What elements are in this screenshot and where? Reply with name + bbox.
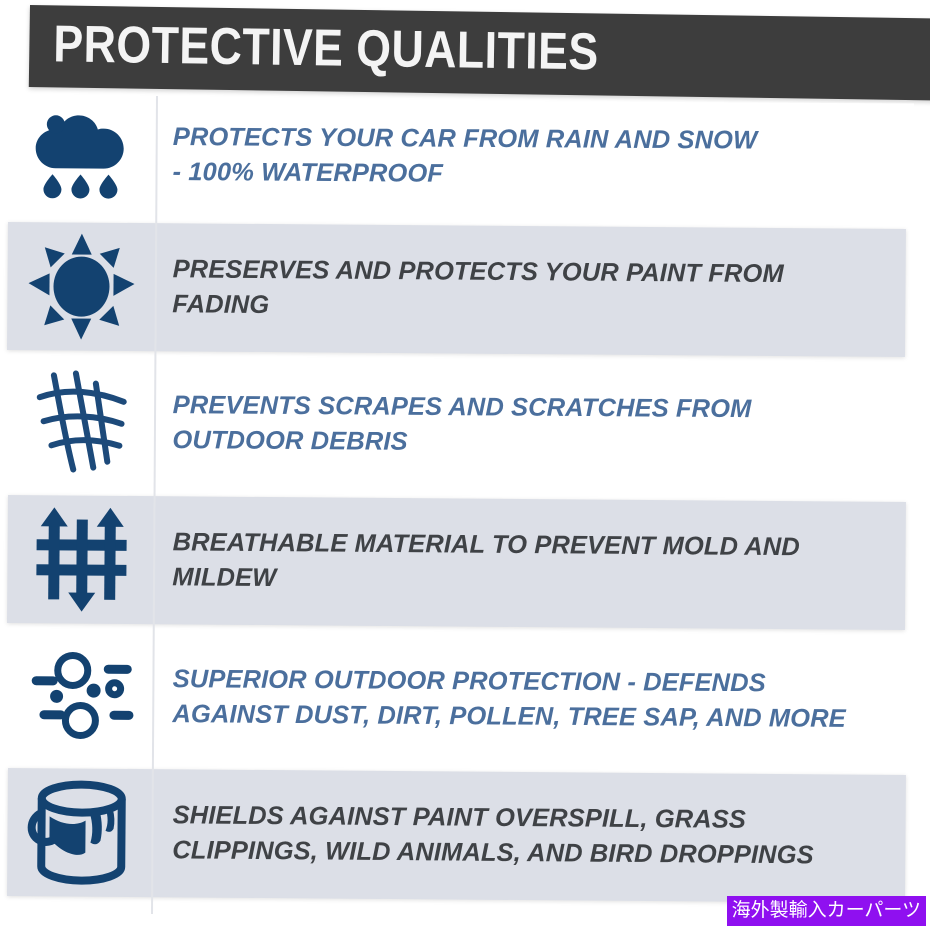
- feature-list: PROTECTS YOUR CAR FROM RAIN AND SNOW - 1…: [0, 0, 930, 930]
- feature-text-line1: PROTECTS YOUR CAR FROM RAIN AND SNOW: [173, 120, 894, 159]
- feature-row: SHIELDS AGAINST PAINT OVERSPILL, GRASS C…: [7, 768, 906, 903]
- feature-text: PRESERVES AND PROTECTS YOUR PAINT FROM F…: [155, 252, 906, 328]
- feature-row: PROTECTS YOUR CAR FROM RAIN AND SNOW - 1…: [7, 98, 914, 216]
- feature-text-line1: SHIELDS AGAINST PAINT OVERSPILL, GRASS: [172, 798, 885, 839]
- feature-text-line2: MILDEW: [172, 560, 885, 601]
- scratch-mesh-icon: [7, 362, 156, 483]
- feature-text: SHIELDS AGAINST PAINT OVERSPILL, GRASS C…: [155, 798, 906, 874]
- dust-particles-icon: [7, 636, 156, 757]
- feature-text: SUPERIOR OUTDOOR PROTECTION - DEFENDS AG…: [155, 662, 913, 737]
- feature-row: PREVENTS SCRAPES AND SCRATCHES FROM OUTD…: [7, 362, 914, 488]
- paint-can-icon: [7, 768, 156, 897]
- feature-text-line2: OUTDOOR DEBRIS: [172, 423, 893, 463]
- feature-text: PROTECTS YOUR CAR FROM RAIN AND SNOW - 1…: [155, 120, 913, 195]
- feature-row: PRESERVES AND PROTECTS YOUR PAINT FROM F…: [7, 222, 906, 357]
- watermark-badge: 海外製輸入カーパーツ: [727, 896, 926, 926]
- feature-row: SUPERIOR OUTDOOR PROTECTION - DEFENDS AG…: [7, 636, 914, 762]
- infographic-page: PROTECTIVE QUALITIES PROTECTS YOUR CAR F…: [0, 0, 930, 930]
- feature-text-line1: PRESERVES AND PROTECTS YOUR PAINT FROM: [172, 252, 885, 293]
- feature-text: PREVENTS SCRAPES AND SCRATCHES FROM OUTD…: [155, 388, 913, 463]
- feature-text-line1: SUPERIOR OUTDOOR PROTECTION - DEFENDS: [173, 662, 894, 702]
- feature-text: BREATHABLE MATERIAL TO PREVENT MOLD AND …: [155, 525, 906, 601]
- feature-text-line2: AGAINST DUST, DIRT, POLLEN, TREE SAP, AN…: [172, 697, 893, 737]
- feature-row: BREATHABLE MATERIAL TO PREVENT MOLD AND …: [7, 495, 906, 630]
- feature-text-line1: BREATHABLE MATERIAL TO PREVENT MOLD AND: [172, 525, 885, 566]
- feature-text-line1: PREVENTS SCRAPES AND SCRATCHES FROM: [173, 388, 894, 428]
- feature-text-line2: CLIPPINGS, WILD ANIMALS, AND BIRD DROPPI…: [172, 833, 885, 874]
- feature-text-line2: FADING: [172, 287, 885, 328]
- sun-icon: [7, 222, 156, 351]
- rain-cloud-icon: [7, 98, 156, 211]
- feature-text-line2: - 100% WATERPROOF: [172, 155, 893, 194]
- breathable-airflow-icon: [7, 495, 156, 624]
